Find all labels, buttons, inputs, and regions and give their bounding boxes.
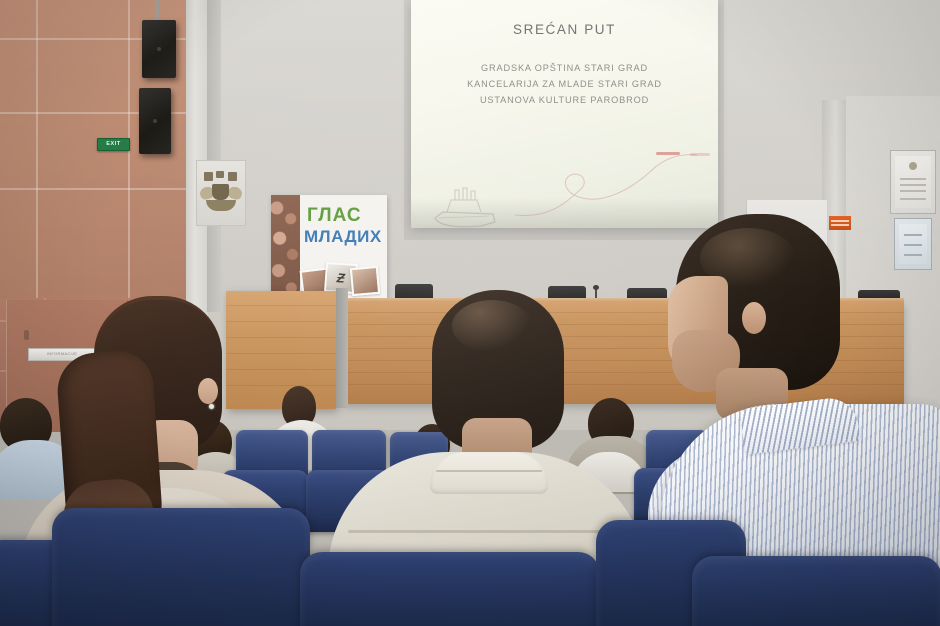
- loudspeaker-lower-icon: [139, 88, 171, 154]
- framed-certificate-lower: [894, 218, 932, 270]
- speaker-bracket: [155, 0, 159, 22]
- lectern-side-edge: [336, 288, 348, 408]
- projection-screen: SREĆAN PUT GRADSKA OPŠTINA STARI GRAD KA…: [411, 0, 718, 228]
- poster-glas-mladih: ГЛАС МЛАДИХ Ƶ: [271, 195, 387, 303]
- framed-certificate-upper: [890, 150, 936, 214]
- slide-line-3: USTANOVA KULTURE PAROBROD: [411, 92, 718, 108]
- lectern: [226, 291, 336, 409]
- door-handle[interactable]: [24, 330, 29, 340]
- red-notice-poster: [829, 216, 851, 230]
- loudspeaker-upper-icon: [142, 20, 176, 78]
- earring: [209, 404, 214, 409]
- auditorium-photo: INFORMACIJE EXIT SREĆAN PUT: [0, 0, 940, 626]
- exit-sign: EXIT: [97, 138, 130, 151]
- collage-glyph: Ƶ: [335, 270, 347, 285]
- poster-title-line1: ГЛАС: [307, 205, 362, 227]
- coat-of-arms-plaque: [196, 160, 246, 226]
- wall-pilaster-left-inner: [207, 0, 221, 312]
- seat-front-row[interactable]: [300, 552, 600, 626]
- poster-photo-strip: [271, 195, 300, 303]
- seat-front-row[interactable]: [692, 556, 940, 626]
- poster-title-line2: МЛАДИХ: [304, 227, 382, 247]
- seat-front-row[interactable]: [52, 508, 310, 626]
- slide-line-2: KANCELARIJA ZA MLADE STARI GRAD: [411, 76, 718, 92]
- exit-sign-label: EXIT: [106, 142, 121, 148]
- slide-line-1: GRADSKA OPŠTINA STARI GRAD: [411, 60, 718, 76]
- red-annotation: [656, 150, 714, 159]
- slide-title: SREĆAN PUT: [411, 22, 718, 37]
- slide-body: GRADSKA OPŠTINA STARI GRAD KANCELARIJA Z…: [411, 60, 718, 108]
